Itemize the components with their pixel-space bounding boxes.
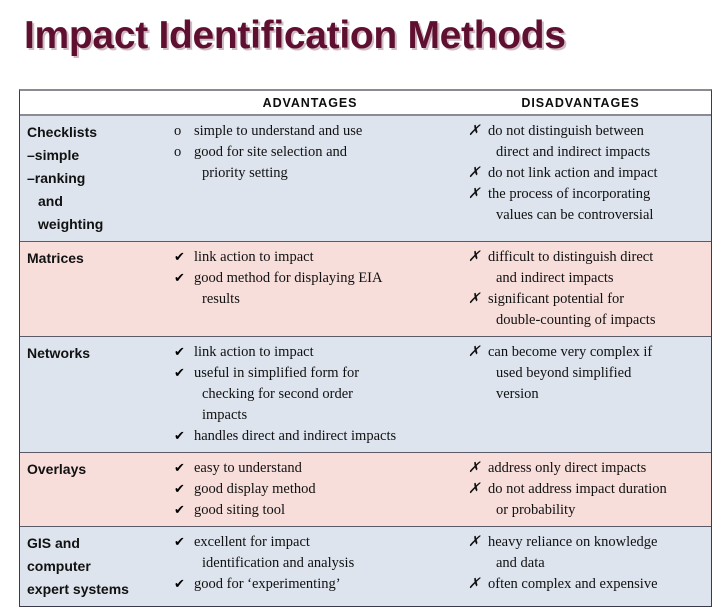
list-item-line: identification and analysis bbox=[194, 553, 446, 574]
method-label: Checklists bbox=[27, 121, 168, 144]
list-item-line: good for site selection and bbox=[194, 142, 446, 163]
page-title: Impact Identification Methods bbox=[24, 13, 566, 59]
list-item-line: handles direct and indirect impacts bbox=[194, 426, 446, 447]
cross-icon: ✗ bbox=[468, 342, 488, 363]
method-label: Overlays bbox=[27, 458, 168, 481]
slide-page: Impact Identification Methods ADVANTAGES… bbox=[0, 0, 723, 550]
circle-bullet-icon: o bbox=[174, 121, 194, 142]
list-item: ✗heavy reliance on knowledgeand data bbox=[468, 532, 707, 574]
list-item-line: do not link action and impact bbox=[488, 163, 707, 184]
list-item-text: good for ‘experimenting’ bbox=[194, 574, 446, 595]
list-item-text: excellent for impactidentification and a… bbox=[194, 532, 446, 574]
advantages-cell: ✔link action to impact✔good method for d… bbox=[170, 242, 450, 336]
check-icon: ✔ bbox=[174, 342, 194, 363]
disadvantages-list: ✗address only direct impacts✗do not addr… bbox=[468, 458, 707, 521]
check-icon: ✔ bbox=[174, 500, 194, 521]
check-icon: ✔ bbox=[174, 247, 194, 268]
list-item-text: can become very complex ifused beyond si… bbox=[488, 342, 707, 405]
disadvantages-list: ✗difficult to distinguish directand indi… bbox=[468, 247, 707, 331]
list-item-line: double-counting of impacts bbox=[488, 310, 707, 331]
cross-icon: ✗ bbox=[468, 458, 488, 479]
method-label: computer bbox=[27, 555, 168, 578]
list-item: ✔excellent for impactidentification and … bbox=[174, 532, 446, 574]
list-item-line: difficult to distinguish direct bbox=[488, 247, 707, 268]
cross-icon: ✗ bbox=[468, 574, 488, 595]
list-item-line: do not distinguish between bbox=[488, 121, 707, 142]
list-item: ✗the process of incorporatingvalues can … bbox=[468, 184, 707, 226]
cross-icon: ✗ bbox=[468, 163, 488, 184]
method-cell: Checklists–simple–rankingandweighting bbox=[20, 116, 170, 241]
cross-icon: ✗ bbox=[468, 289, 488, 310]
list-item: ✔link action to impact bbox=[174, 247, 446, 268]
list-item-text: good display method bbox=[194, 479, 446, 500]
list-item: ✔handles direct and indirect impacts bbox=[174, 426, 446, 447]
check-icon: ✔ bbox=[174, 574, 194, 595]
method-label: Networks bbox=[27, 342, 168, 365]
list-item-line: priority setting bbox=[194, 163, 446, 184]
table-row: Checklists–simple–rankingandweightingosi… bbox=[20, 116, 711, 242]
list-item-line: address only direct impacts bbox=[488, 458, 707, 479]
list-item-line: often complex and expensive bbox=[488, 574, 707, 595]
list-item-text: significant potential fordouble-counting… bbox=[488, 289, 707, 331]
check-icon: ✔ bbox=[174, 426, 194, 447]
list-item-line: the process of incorporating bbox=[488, 184, 707, 205]
impact-methods-table: ADVANTAGES DISADVANTAGES Checklists–simp… bbox=[19, 89, 712, 607]
disadvantages-cell: ✗address only direct impacts✗do not addr… bbox=[450, 453, 711, 526]
list-item-line: direct and indirect impacts bbox=[488, 142, 707, 163]
list-item: ✗do not link action and impact bbox=[468, 163, 707, 184]
list-item-line: can become very complex if bbox=[488, 342, 707, 363]
list-item-text: often complex and expensive bbox=[488, 574, 707, 595]
disadvantages-list: ✗heavy reliance on knowledgeand data✗oft… bbox=[468, 532, 707, 595]
list-item-line: used beyond simplified bbox=[488, 363, 707, 384]
method-label: weighting bbox=[27, 213, 168, 236]
list-item-line: impacts bbox=[194, 405, 446, 426]
method-label: GIS and bbox=[27, 532, 168, 555]
table-row: Matrices✔link action to impact✔good meth… bbox=[20, 242, 711, 337]
advantages-cell: osimple to understand and useogood for s… bbox=[170, 116, 450, 241]
list-item-line: version bbox=[488, 384, 707, 405]
disadvantages-cell: ✗difficult to distinguish directand indi… bbox=[450, 242, 711, 336]
table-row: Networks✔link action to impact✔useful in… bbox=[20, 337, 711, 453]
cross-icon: ✗ bbox=[468, 479, 488, 500]
list-item-line: values can be controversial bbox=[488, 205, 707, 226]
list-item-text: do not address impact durationor probabi… bbox=[488, 479, 707, 521]
list-item: ✔good method for displaying EIAresults bbox=[174, 268, 446, 310]
list-item-line: and data bbox=[488, 553, 707, 574]
table-body: Checklists–simple–rankingandweightingosi… bbox=[20, 116, 711, 606]
list-item-line: results bbox=[194, 289, 446, 310]
list-item: ✗address only direct impacts bbox=[468, 458, 707, 479]
list-item-line: simple to understand and use bbox=[194, 121, 446, 142]
method-cell: Overlays bbox=[20, 453, 170, 526]
list-item-line: good siting tool bbox=[194, 500, 446, 521]
advantages-list: osimple to understand and useogood for s… bbox=[174, 121, 446, 184]
list-item-text: difficult to distinguish directand indir… bbox=[488, 247, 707, 289]
list-item-line: link action to impact bbox=[194, 342, 446, 363]
list-item-text: good for site selection andpriority sett… bbox=[194, 142, 446, 184]
check-icon: ✔ bbox=[174, 363, 194, 384]
list-item-line: good for ‘experimenting’ bbox=[194, 574, 446, 595]
list-item-line: do not address impact duration bbox=[488, 479, 707, 500]
list-item-line: easy to understand bbox=[194, 458, 446, 479]
method-cell: Networks bbox=[20, 337, 170, 452]
list-item-line: checking for second order bbox=[194, 384, 446, 405]
list-item: ✗do not distinguish betweendirect and in… bbox=[468, 121, 707, 163]
disadvantages-cell: ✗can become very complex ifused beyond s… bbox=[450, 337, 711, 452]
list-item: ✔good siting tool bbox=[174, 500, 446, 521]
list-item-text: good siting tool bbox=[194, 500, 446, 521]
list-item-text: simple to understand and use bbox=[194, 121, 446, 142]
list-item-line: good method for displaying EIA bbox=[194, 268, 446, 289]
method-label: Matrices bbox=[27, 247, 168, 270]
list-item: ✔link action to impact bbox=[174, 342, 446, 363]
cross-icon: ✗ bbox=[468, 121, 488, 142]
disadvantages-list: ✗do not distinguish betweendirect and in… bbox=[468, 121, 707, 226]
list-item-text: heavy reliance on knowledgeand data bbox=[488, 532, 707, 574]
list-item: osimple to understand and use bbox=[174, 121, 446, 142]
list-item-text: address only direct impacts bbox=[488, 458, 707, 479]
table-header-row: ADVANTAGES DISADVANTAGES bbox=[20, 91, 711, 116]
method-label: –ranking bbox=[27, 167, 168, 190]
advantages-list: ✔excellent for impactidentification and … bbox=[174, 532, 446, 595]
list-item-line: good display method bbox=[194, 479, 446, 500]
column-header-disadvantages: DISADVANTAGES bbox=[450, 91, 711, 114]
disadvantages-cell: ✗do not distinguish betweendirect and in… bbox=[450, 116, 711, 241]
advantages-cell: ✔excellent for impactidentification and … bbox=[170, 527, 450, 606]
circle-bullet-icon: o bbox=[174, 142, 194, 163]
list-item-line: or probability bbox=[488, 500, 707, 521]
list-item-text: good method for displaying EIAresults bbox=[194, 268, 446, 310]
list-item-line: useful in simplified form for bbox=[194, 363, 446, 384]
list-item-text: handles direct and indirect impacts bbox=[194, 426, 446, 447]
list-item: ✔good for ‘experimenting’ bbox=[174, 574, 446, 595]
list-item: ✗difficult to distinguish directand indi… bbox=[468, 247, 707, 289]
list-item-text: easy to understand bbox=[194, 458, 446, 479]
advantages-list: ✔easy to understand✔good display method✔… bbox=[174, 458, 446, 521]
check-icon: ✔ bbox=[174, 479, 194, 500]
list-item-text: the process of incorporatingvalues can b… bbox=[488, 184, 707, 226]
column-header-advantages: ADVANTAGES bbox=[170, 91, 450, 114]
cross-icon: ✗ bbox=[468, 184, 488, 205]
list-item: ✔useful in simplified form forchecking f… bbox=[174, 363, 446, 426]
list-item-line: and indirect impacts bbox=[488, 268, 707, 289]
method-cell: GIS andcomputerexpert systems bbox=[20, 527, 170, 606]
disadvantages-list: ✗can become very complex ifused beyond s… bbox=[468, 342, 707, 405]
list-item: ✗do not address impact durationor probab… bbox=[468, 479, 707, 521]
method-cell: Matrices bbox=[20, 242, 170, 336]
check-icon: ✔ bbox=[174, 458, 194, 479]
advantages-cell: ✔easy to understand✔good display method✔… bbox=[170, 453, 450, 526]
table-row: GIS andcomputerexpert systems✔excellent … bbox=[20, 527, 711, 606]
column-header-method bbox=[20, 91, 170, 114]
list-item-line: significant potential for bbox=[488, 289, 707, 310]
list-item-text: link action to impact bbox=[194, 247, 446, 268]
check-icon: ✔ bbox=[174, 268, 194, 289]
table-row: Overlays✔easy to understand✔good display… bbox=[20, 453, 711, 527]
method-label: –simple bbox=[27, 144, 168, 167]
list-item-line: link action to impact bbox=[194, 247, 446, 268]
disadvantages-cell: ✗heavy reliance on knowledgeand data✗oft… bbox=[450, 527, 711, 606]
method-label: expert systems bbox=[27, 578, 168, 601]
list-item-text: do not link action and impact bbox=[488, 163, 707, 184]
advantages-list: ✔link action to impact✔useful in simplif… bbox=[174, 342, 446, 447]
list-item: ✗often complex and expensive bbox=[468, 574, 707, 595]
advantages-list: ✔link action to impact✔good method for d… bbox=[174, 247, 446, 310]
method-label: and bbox=[27, 190, 168, 213]
list-item: ✔easy to understand bbox=[174, 458, 446, 479]
list-item-text: useful in simplified form forchecking fo… bbox=[194, 363, 446, 426]
list-item: ✔good display method bbox=[174, 479, 446, 500]
list-item: ogood for site selection andpriority set… bbox=[174, 142, 446, 184]
cross-icon: ✗ bbox=[468, 247, 488, 268]
advantages-cell: ✔link action to impact✔useful in simplif… bbox=[170, 337, 450, 452]
list-item: ✗significant potential fordouble-countin… bbox=[468, 289, 707, 331]
list-item: ✗can become very complex ifused beyond s… bbox=[468, 342, 707, 405]
list-item-text: do not distinguish betweendirect and ind… bbox=[488, 121, 707, 163]
list-item-text: link action to impact bbox=[194, 342, 446, 363]
